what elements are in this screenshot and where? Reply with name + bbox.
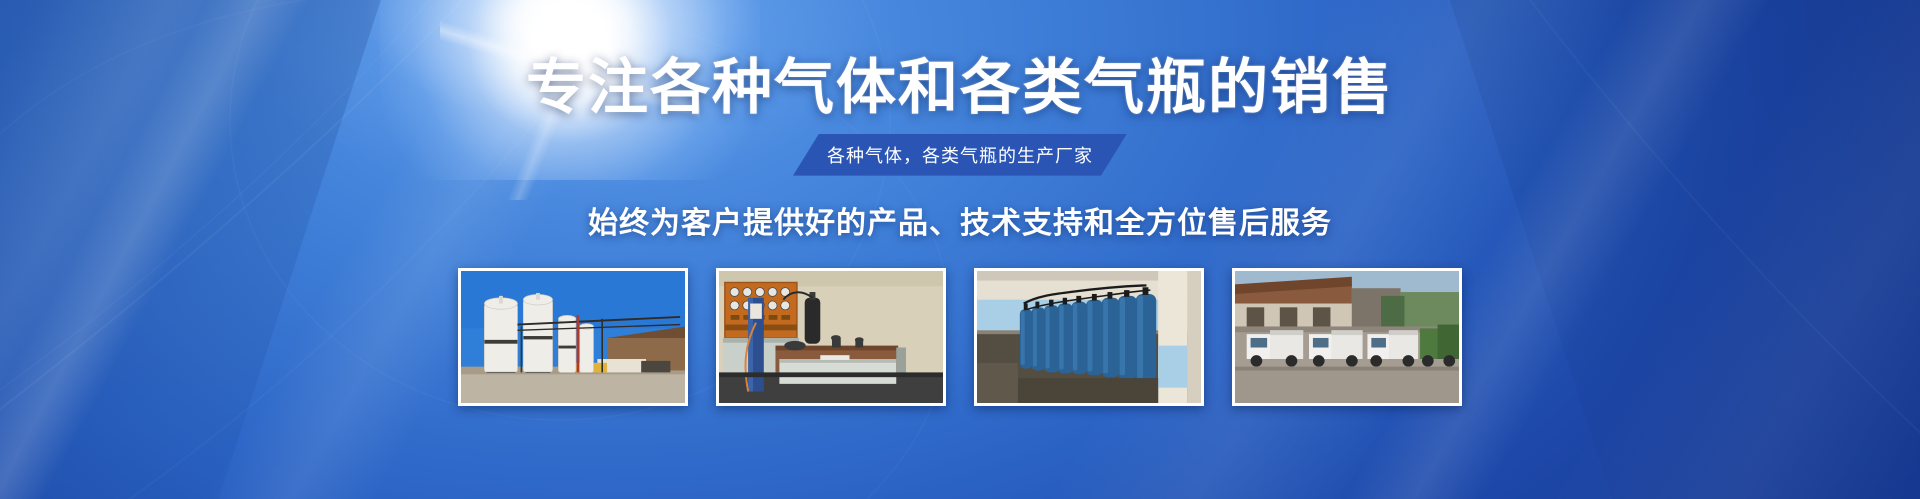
hero-banner: 专注各种气体和各类气瓶的销售 各种气体，各类气瓶的生产厂家 始终为客户提供好的产… <box>0 0 1920 499</box>
photo-gallery <box>458 268 1462 406</box>
delivery-trucks-photo[interactable] <box>1232 268 1462 406</box>
page-title: 专注各种气体和各类气瓶的销售 <box>526 56 1394 120</box>
hero-subtitle: 始终为客户提供好的产品、技术支持和全方位售后服务 <box>588 198 1332 242</box>
gas-filling-test-equipment-photo[interactable] <box>716 268 946 406</box>
ribbon-container: 各种气体，各类气瓶的生产厂家 <box>793 134 1127 176</box>
cryogenic-storage-tanks-photo[interactable] <box>458 268 688 406</box>
tagline-ribbon: 各种气体，各类气瓶的生产厂家 <box>793 134 1127 176</box>
blue-gas-cylinders-warehouse-photo[interactable] <box>974 268 1204 406</box>
hero-content: 专注各种气体和各类气瓶的销售 各种气体，各类气瓶的生产厂家 始终为客户提供好的产… <box>0 0 1920 499</box>
